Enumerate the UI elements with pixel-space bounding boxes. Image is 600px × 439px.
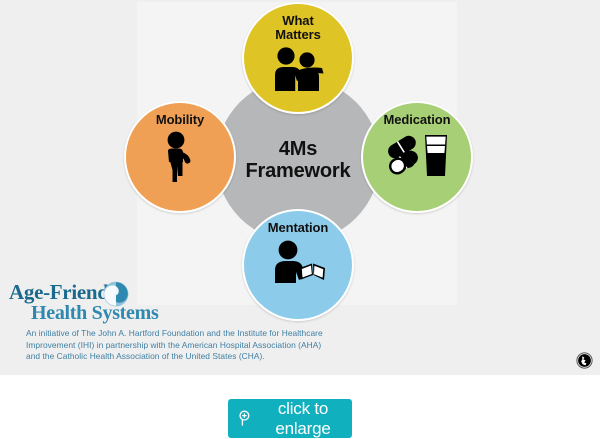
petal-medication-label: Medication <box>384 113 451 127</box>
petal-medication-label-line-1: Medication <box>384 113 451 127</box>
petal-mobility-label-line-1: Mobility <box>156 113 204 127</box>
globe-icon <box>576 352 593 369</box>
pills-and-glass-icon <box>385 131 449 177</box>
hub-label-line-1: 4Ms <box>246 138 351 160</box>
walking-person-icon <box>157 131 203 183</box>
petal-mentation-label-line-1: Mentation <box>268 221 328 235</box>
petal-what-matters-label-line-1: What <box>275 14 321 28</box>
petal-mobility-label: Mobility <box>156 113 204 127</box>
attribution-line-1: An initiative of The John A. Hartford Fo… <box>26 328 356 340</box>
attribution-line-2: Improvement (IHI) in partnership with th… <box>26 340 356 352</box>
magnifier-plus-icon <box>237 410 252 427</box>
age-friendly-logo-block: Age-Friendly Health Systems An initiativ… <box>9 280 349 326</box>
attribution-text: An initiative of The John A. Hartford Fo… <box>26 328 356 363</box>
attribution-line-3: and the Catholic Health Association of t… <box>26 351 356 363</box>
logo-lockup: Age-Friendly Health Systems <box>9 280 349 326</box>
enlarge-bar: click to enlarge <box>0 375 600 438</box>
click-to-enlarge-button[interactable]: click to enlarge <box>228 399 352 438</box>
hub-label: 4Ms Framework <box>246 138 351 182</box>
petal-what-matters[interactable]: What Matters <box>242 2 354 114</box>
petal-medication[interactable]: Medication <box>361 101 473 213</box>
person-reading-icon <box>267 239 329 285</box>
4ms-framework-diagram: 4Ms Framework What Matters <box>123 0 473 320</box>
petal-mobility[interactable]: Mobility <box>124 101 236 213</box>
framework-image-panel[interactable]: 4Ms Framework What Matters <box>0 0 600 375</box>
petal-mentation-label: Mentation <box>268 221 328 235</box>
two-people-icon <box>267 46 329 92</box>
petal-what-matters-label: What Matters <box>275 14 321 42</box>
spiral-icon <box>103 281 129 307</box>
enlarge-button-label: click to enlarge <box>254 399 352 439</box>
petal-what-matters-label-line-2: Matters <box>275 28 321 42</box>
logo-line-2: Health Systems <box>31 302 158 325</box>
hub-label-line-2: Framework <box>246 160 351 182</box>
